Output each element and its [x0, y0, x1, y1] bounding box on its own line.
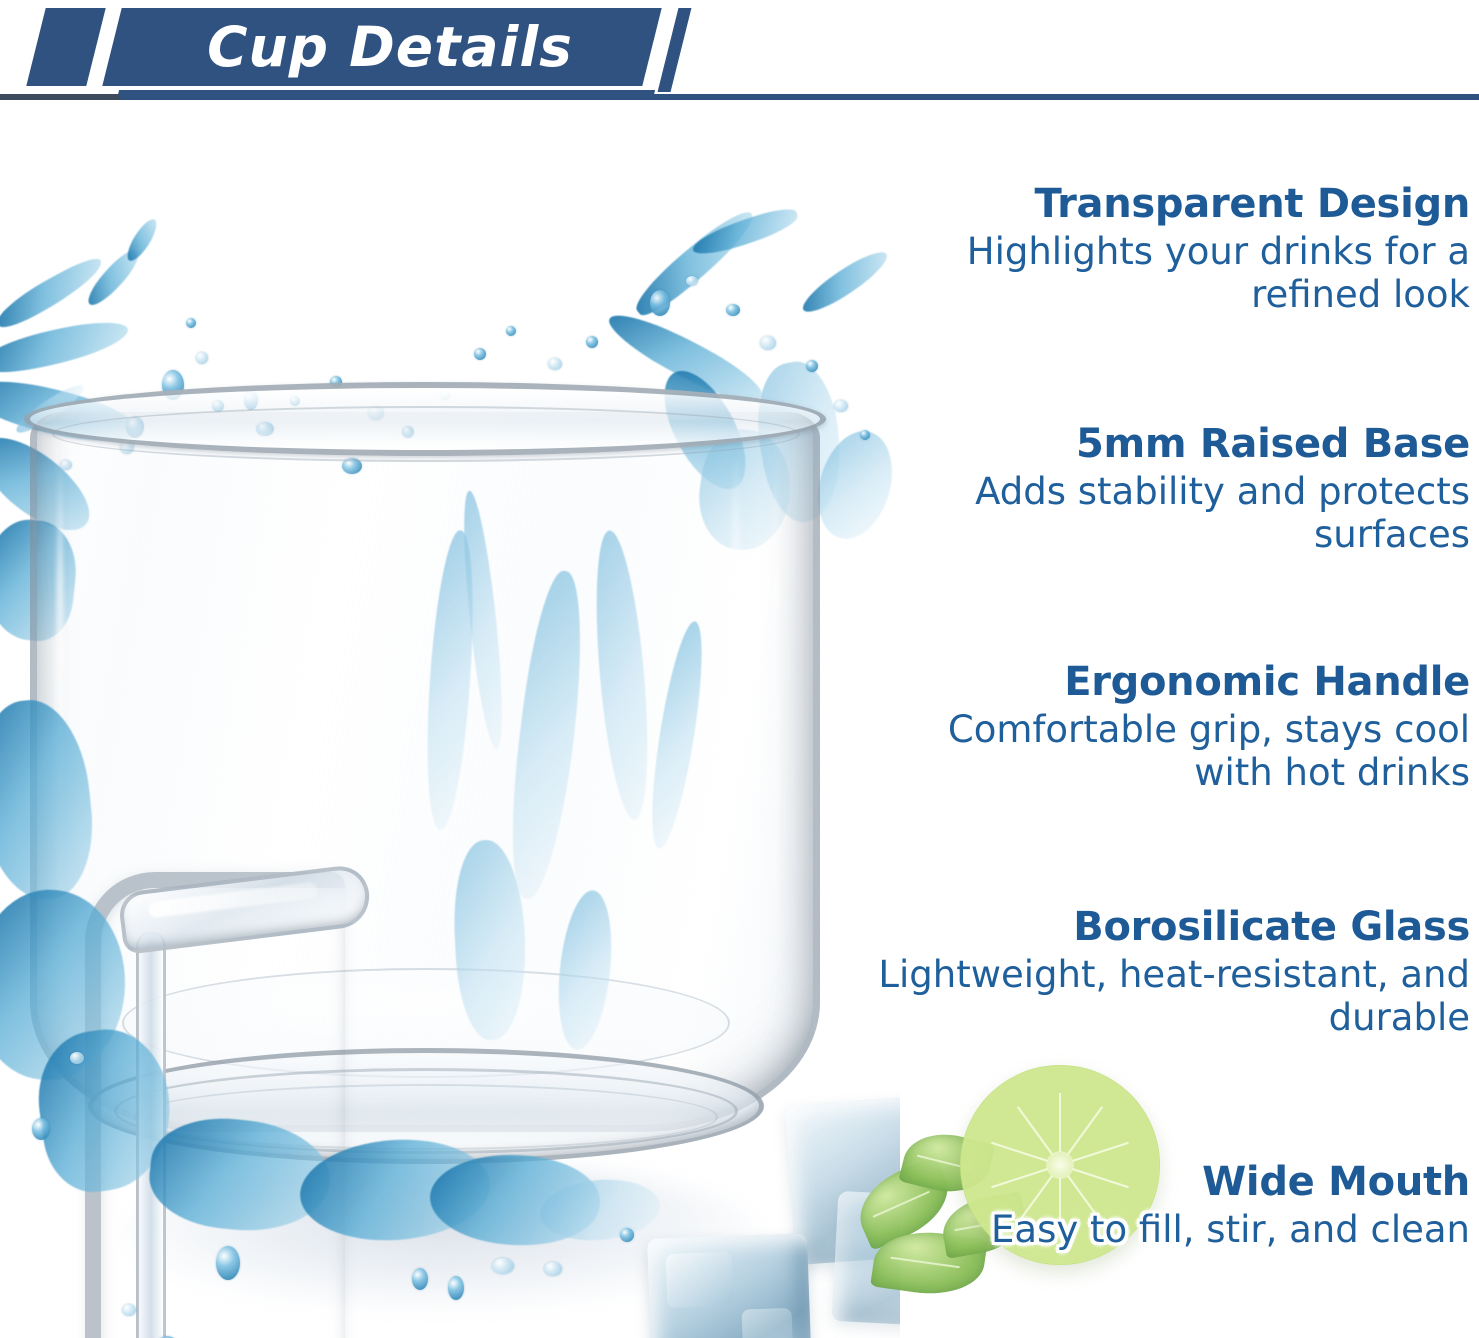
- feature-description: Adds stability and protects surfaces: [870, 471, 1470, 557]
- glass-mug: [30, 412, 820, 1172]
- ice-cube-front: [647, 1233, 813, 1338]
- feature-title: Wide Mouth: [870, 1160, 1470, 1205]
- feature-item-borosilicate-glass: Borosilicate Glass Lightweight, heat-res…: [870, 905, 1470, 1040]
- feature-item-wide-mouth: Wide Mouth Easy to fill, stir, and clean: [870, 1160, 1470, 1252]
- feature-description: Highlights your drinks for a refined loo…: [870, 231, 1470, 317]
- feature-title: 5mm Raised Base: [870, 422, 1470, 467]
- feature-item-raised-base: 5mm Raised Base Adds stability and prote…: [870, 422, 1470, 557]
- feature-description: Lightweight, heat-resistant, and durable: [870, 954, 1470, 1040]
- feature-title: Transparent Design: [870, 182, 1470, 227]
- feature-item-ergonomic-handle: Ergonomic Handle Comfortable grip, stays…: [870, 660, 1470, 795]
- banner-right-accent-shape: [658, 8, 692, 92]
- feature-list: Transparent Design Highlights your drink…: [820, 160, 1479, 1320]
- banner-left-accent-shape: [26, 8, 105, 86]
- product-image-stage: [0, 100, 900, 1338]
- feature-description: Comfortable grip, stays cool with hot dr…: [870, 709, 1470, 795]
- page-title: Cup Details: [140, 10, 640, 84]
- feature-item-transparent-design: Transparent Design Highlights your drink…: [870, 182, 1470, 317]
- feature-title: Ergonomic Handle: [870, 660, 1470, 705]
- mug-handle-stem: [136, 932, 166, 1338]
- mug-rim-inner: [52, 406, 800, 462]
- feature-description: Easy to fill, stir, and clean: [870, 1209, 1470, 1252]
- feature-title: Borosilicate Glass: [870, 905, 1470, 950]
